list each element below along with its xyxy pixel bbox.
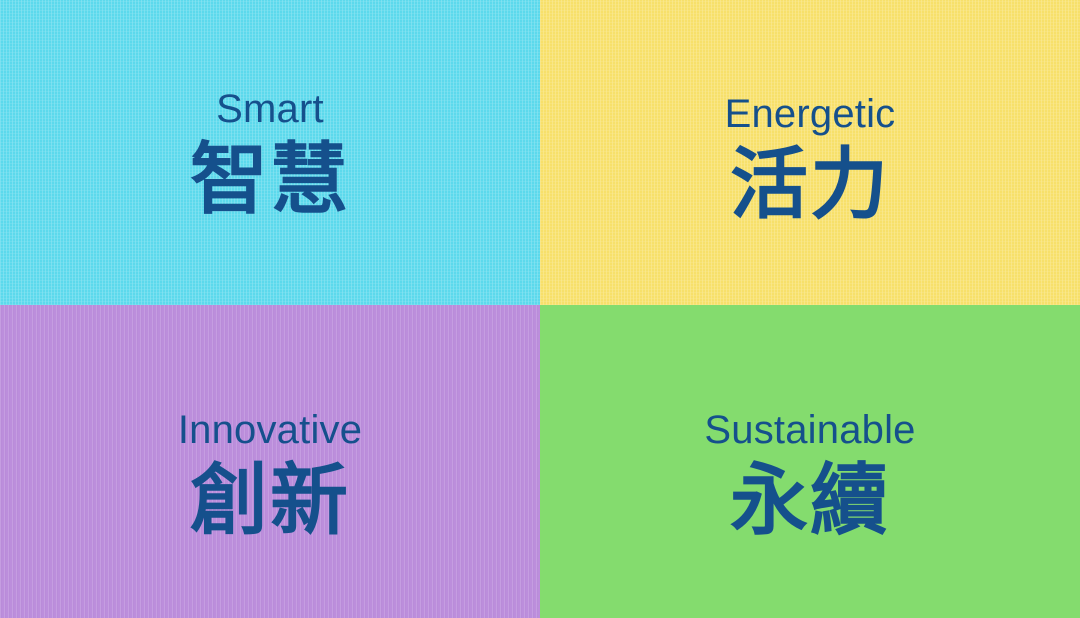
quadrant-smart[interactable]: Smart 智慧: [0, 0, 540, 305]
quadrant-label-en-sustainable: Sustainable: [704, 410, 915, 450]
quadrant-innovative[interactable]: Innovative 創新: [0, 305, 540, 618]
quadrant-label-cjk-innovative: 創新: [190, 462, 350, 540]
quadrant-sustainable[interactable]: Sustainable 永續: [540, 305, 1080, 618]
quadrant-label-en-energetic: Energetic: [725, 94, 896, 134]
quadrant-label-en-innovative: Innovative: [178, 410, 362, 450]
quadrant-text-block: Smart 智慧: [0, 89, 540, 219]
quadrant-energetic[interactable]: Energetic 活力: [540, 0, 1080, 305]
quadrant-text-block: Innovative 創新: [0, 410, 540, 540]
quadrant-text-block: Sustainable 永續: [540, 410, 1080, 540]
quadrant-label-cjk-smart: 智慧: [190, 141, 350, 219]
quadrant-label-en-smart: Smart: [216, 89, 324, 129]
quadrant-text-block: Energetic 活力: [540, 94, 1080, 224]
brand-values-grid: Smart 智慧 Energetic 活力 Innovative 創新 Sust…: [0, 0, 1080, 618]
quadrant-label-cjk-energetic: 活力: [730, 146, 890, 224]
quadrant-label-cjk-sustainable: 永續: [730, 462, 890, 540]
